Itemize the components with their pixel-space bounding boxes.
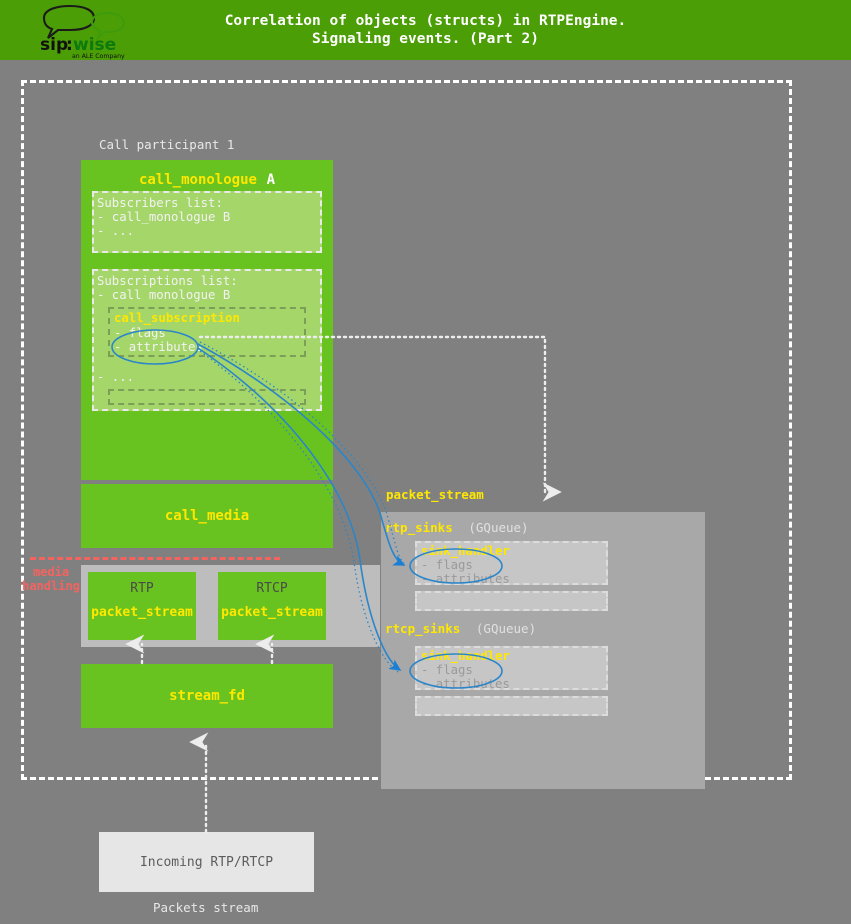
rtp-sink-handler-box: sink_handler - flags - attributes xyxy=(415,541,608,585)
rtcp-packet-stream-box: RTCP packet_stream xyxy=(218,572,326,640)
subscription-empty-slot xyxy=(108,389,306,405)
media-handling-divider xyxy=(30,557,280,560)
call-monologue-suffix: A xyxy=(267,172,275,188)
rtcp-packet-stream-label: packet_stream xyxy=(218,605,326,620)
subscriptions-item-1: - ... xyxy=(97,370,134,385)
media-handling-line-1: media xyxy=(20,565,82,579)
title-line-1: Correlation of objects (structs) in RTPE… xyxy=(225,12,627,30)
page-title: Correlation of objects (structs) in RTPE… xyxy=(0,0,851,60)
rtp-sink-handler-field-1: - attributes xyxy=(421,572,510,587)
rtp-proto-label: RTP xyxy=(88,581,196,596)
stream-fd-box: stream_fd xyxy=(81,664,333,728)
rtp-sink-handler-name: sink_handler xyxy=(421,544,510,558)
call-media-box: call_media xyxy=(81,484,333,548)
media-handling-label: media handling xyxy=(20,565,82,593)
rtcp-sink-handler-box: sink_handler - flags - attributes xyxy=(415,646,608,690)
packet-stream-panel: rtp_sinks (GQueue) sink_handler - flags … xyxy=(381,512,705,789)
subscribers-heading: Subscribers list: xyxy=(97,196,223,211)
rtcp-sinks-type: (GQueue) xyxy=(476,621,536,636)
diagram-canvas: Call participant 1 call_monologue A Subs… xyxy=(0,60,851,924)
subscriptions-item-0: - call monologue B xyxy=(97,288,230,303)
incoming-packets-box: Incoming RTP/RTCP xyxy=(99,832,314,892)
rtp-sinks-label: rtp_sinks xyxy=(385,520,453,535)
rtp-sinks-type: (GQueue) xyxy=(468,520,528,535)
packets-stream-caption: Packets stream xyxy=(153,900,258,915)
subscribers-list-panel: Subscribers list: - call_monologue B - .… xyxy=(92,191,322,253)
app-header: sip : wise an ALE Company Correlation of… xyxy=(0,0,851,60)
rtcp-sink-handler-field-0: - flags xyxy=(421,663,473,678)
call-participant-label: Call participant 1 xyxy=(99,137,234,152)
subscriptions-heading: Subscriptions list: xyxy=(97,274,238,289)
call-subscription-box: call_subscription - flags - attributes xyxy=(108,307,306,357)
incoming-packets-label: Incoming RTP/RTCP xyxy=(140,855,273,870)
stream-fd-label: stream_fd xyxy=(169,688,245,704)
call-subscription-field-1: - attributes xyxy=(114,340,203,355)
rtp-packet-stream-label: packet_stream xyxy=(88,605,196,620)
title-line-2: Signaling events. (Part 2) xyxy=(312,30,539,48)
rtcp-sink-empty-slot xyxy=(415,696,608,716)
call-subscription-field-0: - flags xyxy=(114,326,166,341)
rtp-sink-handler-field-0: - flags xyxy=(421,558,473,573)
rtp-sink-empty-slot xyxy=(415,591,608,611)
media-handling-line-2: handling xyxy=(20,579,82,593)
call-subscription-name: call_subscription xyxy=(114,311,240,325)
call-monologue-title: call_monologue xyxy=(139,172,257,188)
rtcp-sink-handler-field-1: - attributes xyxy=(421,677,510,692)
rtcp-proto-label: RTCP xyxy=(218,581,326,596)
subscribers-item-0: - call_monologue B xyxy=(97,210,230,225)
rtcp-sink-handler-name: sink_handler xyxy=(421,649,510,663)
call-media-label: call_media xyxy=(165,508,249,524)
subscribers-item-1: - ... xyxy=(97,224,134,239)
packet-stream-panel-title: packet_stream xyxy=(386,487,484,502)
subscriptions-list-panel: Subscriptions list: - call monologue B c… xyxy=(92,269,322,411)
rtcp-sinks-label: rtcp_sinks xyxy=(385,621,460,636)
rtp-packet-stream-box: RTP packet_stream xyxy=(88,572,196,640)
